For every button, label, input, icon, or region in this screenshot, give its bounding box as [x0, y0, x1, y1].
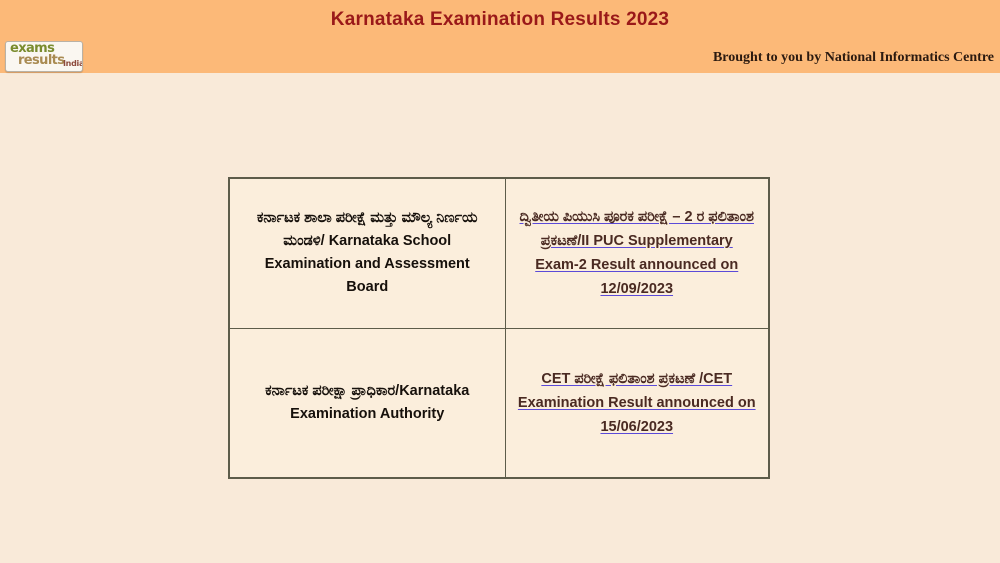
authority-name-cell: ಕರ್ನಾಟಕ ಪರೀಕ್ಷಾ ಪ್ರಾಧಿಕಾರ/Karnataka Exam…: [229, 328, 505, 478]
result-announcement-cell: ದ್ವಿತೀಯ ಪಿಯುಸಿ ಪೂರಕ ಪರೀಕ್ಷೆ – 2 ರ ಫಲಿತಾಂ…: [505, 178, 769, 328]
result-link[interactable]: ದ್ವಿತೀಯ ಪಿಯುಸಿ ಪೂರಕ ಪರೀಕ್ಷೆ – 2 ರ ಫಲಿತಾಂ…: [520, 209, 754, 297]
result-link[interactable]: CET ಪರೀಕ್ಷೆ ಫಲಿತಾಂಶ ಪ್ರಕಟಣೆ /CET Examina…: [518, 371, 756, 435]
results-table: ಕರ್ನಾಟಕ ಶಾಲಾ ಪರೀಕ್ಷೆ ಮತ್ತು ಮೌಲ್ಯ ನಿರ್ಣಯ …: [228, 177, 770, 479]
logo-text-results: results: [18, 54, 64, 68]
results-table-body: ಕರ್ನಾಟಕ ಶಾಲಾ ಪರೀಕ್ಷೆ ಮತ್ತು ಮೌಲ್ಯ ನಿರ್ಣಯ …: [229, 178, 769, 478]
page-title: Karnataka Examination Results 2023: [0, 9, 1000, 31]
logo-text-india: India: [63, 59, 83, 68]
credit-line: Brought to you by National Informatics C…: [713, 50, 994, 66]
authority-name-cell: ಕರ್ನಾಟಕ ಶಾಲಾ ಪರೀಕ್ಷೆ ಮತ್ತು ಮೌಲ್ಯ ನಿರ್ಣಯ …: [229, 178, 505, 328]
page-header-band: Karnataka Examination Results 2023 exams…: [0, 0, 1000, 73]
table-row: ಕರ್ನಾಟಕ ಪರೀಕ್ಷಾ ಪ್ರಾಧಿಕಾರ/Karnataka Exam…: [229, 328, 769, 478]
result-announcement-cell: CET ಪರೀಕ್ಷೆ ಫಲಿತಾಂಶ ಪ್ರಕಟಣೆ /CET Examina…: [505, 328, 769, 478]
exams-results-india-logo[interactable]: exams results India: [5, 41, 83, 72]
table-row: ಕರ್ನಾಟಕ ಶಾಲಾ ಪರೀಕ್ಷೆ ಮತ್ತು ಮೌಲ್ಯ ನಿರ್ಣಯ …: [229, 178, 769, 328]
